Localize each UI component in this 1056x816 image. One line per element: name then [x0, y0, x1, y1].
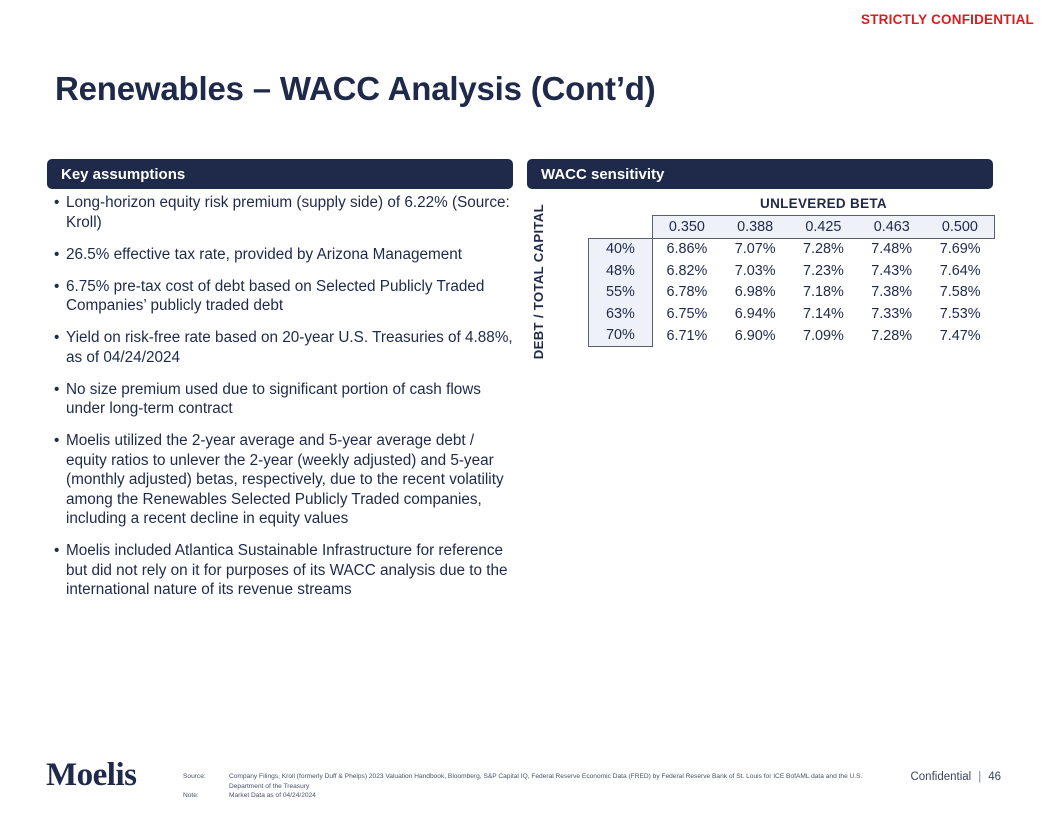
page-meta: Confidential|46 [910, 771, 1001, 783]
assumption-item: •Moelis included Atlantica Sustainable I… [50, 541, 518, 600]
table-cell-wacc: 7.03% [721, 260, 789, 282]
bullet-point-icon: • [50, 193, 66, 232]
footnote-source-row: Source: Company Filings, Kroll (formerly… [183, 772, 873, 791]
table-cell-wacc: 7.23% [789, 260, 857, 282]
assumption-text: No size premium used due to significant … [66, 380, 518, 419]
bullet-point-icon: • [50, 380, 66, 419]
assumption-text: 6.75% pre-tax cost of debt based on Sele… [66, 277, 518, 316]
table-header-row: 0.3500.3880.4250.4630.500 [589, 216, 995, 239]
assumption-item: •Moelis utilized the 2-year average and … [50, 431, 518, 529]
table-cell-wacc: 6.82% [652, 260, 721, 282]
panel-header-label-left: Key assumptions [61, 166, 185, 183]
table-row-header: 48% [589, 260, 653, 282]
table-column-header: 0.388 [721, 216, 789, 239]
table-row-header: 55% [589, 282, 653, 304]
assumption-item: •6.75% pre-tax cost of debt based on Sel… [50, 277, 518, 316]
table-corner-cell [589, 216, 653, 239]
bullet-point-icon: • [50, 431, 66, 529]
footnote-note-row: Note: Market Data as of 04/24/2024 [183, 791, 873, 801]
table-cell-wacc: 7.64% [926, 260, 995, 282]
table-cell-wacc: 6.86% [652, 238, 721, 260]
bullet-point-icon: • [50, 541, 66, 600]
panel-header-key-assumptions: Key assumptions [47, 159, 513, 189]
table-cell-wacc: 7.28% [789, 238, 857, 260]
assumption-item: •26.5% effective tax rate, provided by A… [50, 245, 518, 265]
bullet-point-icon: • [50, 277, 66, 316]
page-meta-separator: | [971, 771, 988, 783]
table-cell-wacc: 6.75% [652, 303, 721, 325]
table-cell-wacc: 7.38% [858, 282, 926, 304]
table-cell-wacc: 7.18% [789, 282, 857, 304]
table-row: 48%6.82%7.03%7.23%7.43%7.64% [589, 260, 995, 282]
table-cell-wacc: 7.14% [789, 303, 857, 325]
confidential-label: Confidential [910, 771, 971, 783]
footnote-source-label: Source: [183, 772, 229, 791]
table-cell-wacc: 7.48% [858, 238, 926, 260]
wacc-sensitivity-table: 0.3500.3880.4250.4630.50040%6.86%7.07%7.… [588, 215, 995, 347]
assumption-text: Moelis included Atlantica Sustainable In… [66, 541, 518, 600]
assumption-item: •Yield on risk-free rate based on 20-yea… [50, 328, 518, 367]
table-row: 55%6.78%6.98%7.18%7.38%7.58% [589, 282, 995, 304]
table-row-header: 40% [589, 238, 653, 260]
table-cell-wacc: 7.07% [721, 238, 789, 260]
table-cell-wacc: 7.33% [858, 303, 926, 325]
panel-header-wacc-sensitivity: WACC sensitivity [527, 159, 993, 189]
confidentiality-stamp: STRICTLY CONFIDENTIAL [861, 12, 1034, 27]
assumption-text: 26.5% effective tax rate, provided by Ar… [66, 245, 518, 265]
table-row: 70%6.71%6.90%7.09%7.28%7.47% [589, 325, 995, 347]
assumption-text: Long-horizon equity risk premium (supply… [66, 193, 518, 232]
table-cell-wacc: 7.58% [926, 282, 995, 304]
page-number: 46 [988, 771, 1001, 783]
table-column-header: 0.350 [652, 216, 721, 239]
table-row-axis-title-text: DEBT / TOTAL CAPITAL [531, 204, 547, 359]
table-row: 40%6.86%7.07%7.28%7.48%7.69% [589, 238, 995, 260]
table-column-header: 0.500 [926, 216, 995, 239]
panel-header-label-right: WACC sensitivity [541, 166, 664, 183]
table-column-header: 0.463 [858, 216, 926, 239]
table-row: 63%6.75%6.94%7.14%7.33%7.53% [589, 303, 995, 325]
table-cell-wacc: 7.28% [858, 325, 926, 347]
moelis-logo: Moelis [46, 757, 136, 794]
table-cell-wacc: 6.98% [721, 282, 789, 304]
assumption-item: •No size premium used due to significant… [50, 380, 518, 419]
footnote-source-text: Company Filings, Kroll (formerly Duff & … [229, 772, 873, 791]
assumption-text: Moelis utilized the 2-year average and 5… [66, 431, 518, 529]
table-column-axis-title: UNLEVERED BETA [653, 196, 994, 211]
table-cell-wacc: 6.71% [652, 325, 721, 347]
bullet-point-icon: • [50, 328, 66, 367]
assumption-text: Yield on risk-free rate based on 20-year… [66, 328, 518, 367]
assumption-item: •Long-horizon equity risk premium (suppl… [50, 193, 518, 232]
key-assumptions-list: •Long-horizon equity risk premium (suppl… [50, 193, 518, 612]
table-cell-wacc: 7.43% [858, 260, 926, 282]
table-row-header: 63% [589, 303, 653, 325]
footnote-note-label: Note: [183, 791, 229, 801]
page-title: Renewables – WACC Analysis (Cont’d) [55, 70, 656, 108]
footnote-note-text: Market Data as of 04/24/2024 [229, 791, 873, 801]
table-column-header: 0.425 [789, 216, 857, 239]
bullet-point-icon: • [50, 245, 66, 265]
table-row-header: 70% [589, 325, 653, 347]
footnotes: Source: Company Filings, Kroll (formerly… [183, 772, 873, 801]
table-cell-wacc: 6.94% [721, 303, 789, 325]
table-cell-wacc: 6.78% [652, 282, 721, 304]
table-cell-wacc: 7.47% [926, 325, 995, 347]
table-cell-wacc: 7.69% [926, 238, 995, 260]
table-cell-wacc: 7.53% [926, 303, 995, 325]
table-cell-wacc: 7.09% [789, 325, 857, 347]
table-cell-wacc: 6.90% [721, 325, 789, 347]
